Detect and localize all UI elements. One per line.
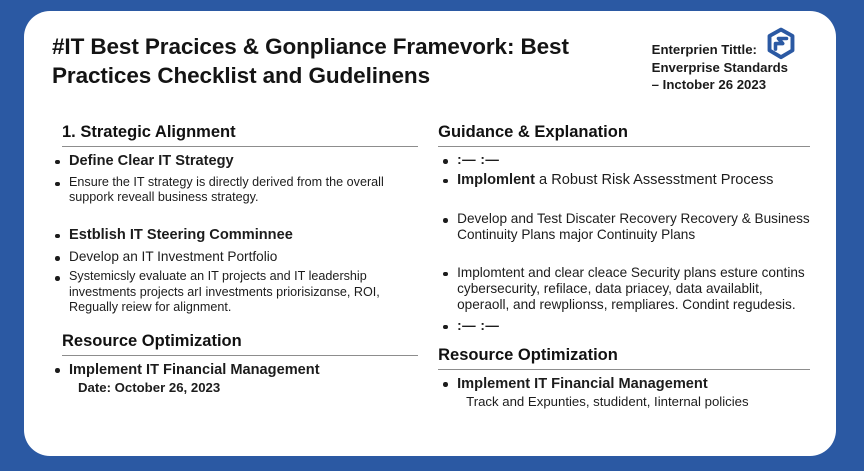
spacer	[50, 209, 418, 226]
left-bullet-list-2: Estblish IT Steering Comminnee Develop a…	[50, 226, 418, 315]
spacer	[50, 319, 418, 332]
list-item-emphasis: Implomlent	[457, 172, 535, 188]
right-column: Guidance & Explanation :— :— Implomlent …	[430, 123, 810, 414]
left-column: 1. Strategic Alignment Define Clear IT S…	[50, 123, 430, 414]
list-item: Develop and Test Discater Recovery Recov…	[438, 211, 810, 244]
right-section-guidance-heading: Guidance & Explanation	[438, 123, 810, 147]
list-item: Ensure the IT strategy is directly deriv…	[50, 175, 418, 205]
right-bullet-list-3: Implomtent and clear cleace Security pla…	[438, 265, 810, 333]
shield-check-logo-icon	[764, 27, 798, 61]
list-item: Implomtent and clear cleace Security pla…	[438, 265, 810, 314]
slide-frame: #IT Best Pracices & Gonpliance Framevork…	[0, 0, 864, 471]
list-item-placeholder-dashes: :— :—	[438, 318, 810, 333]
right-section-resource-optimization-heading: Resource Optimization	[438, 346, 810, 370]
left-bullet-list: Define Clear IT Strategy Ensure the IT s…	[50, 152, 418, 205]
card-content: #IT Best Pracices & Gonpliance Framevork…	[24, 11, 836, 456]
list-item-title: Implement IT Financial Management	[457, 376, 708, 392]
spacer	[438, 194, 810, 211]
left-bullet-list-3: Implement IT Financial Management Date: …	[50, 361, 418, 396]
meta-line-date: – Inctober 26 2023	[652, 76, 788, 94]
list-item-detail: Track and Expunties, studident, Ιinterna…	[457, 394, 810, 411]
list-item: Implomlent a Robust Risk Assesstment Pro…	[438, 171, 810, 190]
list-item: Develop an IT Investment Portfolio	[50, 249, 418, 265]
document-header: #IT Best Pracices & Gonpliance Framevork…	[50, 33, 810, 119]
list-item: Implement IT Financial Management Date: …	[50, 361, 418, 396]
list-item-placeholder-dashes: :— :—	[438, 152, 810, 167]
spacer	[438, 248, 810, 265]
page-title: #IT Best Pracices & Gonpliance Framevork…	[50, 33, 652, 91]
list-item: Systemicsly evaluate an IT projects and …	[50, 269, 418, 314]
header-meta-area: Enterprien Tittle: Enverprise Standards …	[652, 33, 810, 94]
left-section-resource-optimization-heading: Resource Optimization	[62, 332, 418, 356]
right-bullet-list-2: Develop and Test Discater Recovery Recov…	[438, 211, 810, 244]
right-bullet-list: :— :— Implomlent a Robust Risk Assesstme…	[438, 152, 810, 190]
list-item: Define Clear IT Strategy	[50, 152, 418, 171]
list-item: Estblish IT Steering Comminnee	[50, 226, 418, 245]
list-item-date: Date: October 26, 2023	[69, 380, 418, 397]
left-section-strategic-alignment-heading: 1. Strategic Alignment	[62, 123, 418, 147]
list-item-title: Implement IT Financial Management	[69, 362, 320, 378]
meta-line-standard: Enverprise Standards	[652, 59, 788, 77]
two-column-body: 1. Strategic Alignment Define Clear IT S…	[50, 123, 810, 414]
spacer	[438, 337, 810, 346]
list-item: Implement IT Financial Management Track …	[438, 375, 810, 410]
right-bullet-list-4: Implement IT Financial Management Track …	[438, 375, 810, 410]
document-card: #IT Best Pracices & Gonpliance Framevork…	[24, 11, 836, 456]
list-item-text: a Robust Risk Assesstment Process	[535, 172, 773, 188]
